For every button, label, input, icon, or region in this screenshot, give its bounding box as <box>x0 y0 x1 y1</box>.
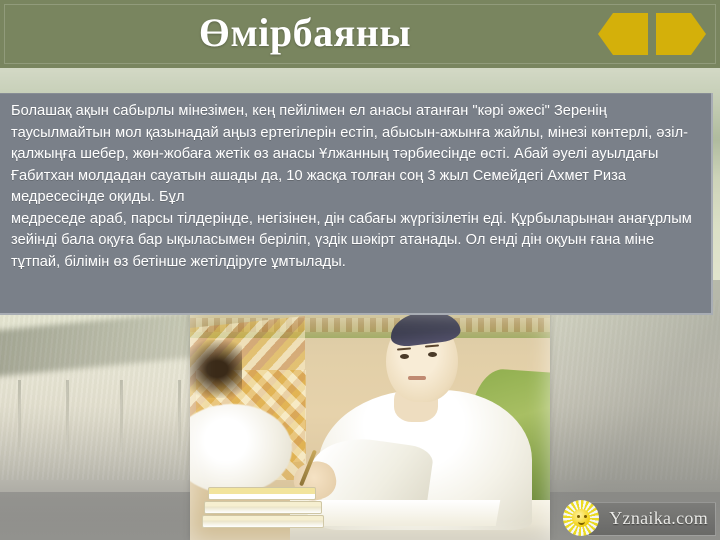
painting-eye-right <box>428 352 437 357</box>
painting-book-stack <box>202 482 322 530</box>
next-slide-arrow-icon[interactable] <box>656 13 706 55</box>
watermark-site-label: Yznaika.com <box>603 508 716 529</box>
painting-eye-left <box>400 354 409 359</box>
sun-icon <box>563 500 599 536</box>
background-fence <box>10 380 200 452</box>
slide-header-bar: Өмірбаяны <box>0 0 720 68</box>
painting-mouth <box>408 376 426 380</box>
biography-text-panel: Болашақ ақын сабырлы мінезімен, кең пейі… <box>0 93 713 315</box>
biography-body-text: Болашақ ақын сабырлы мінезімен, кең пейі… <box>11 101 697 273</box>
previous-slide-arrow-icon[interactable] <box>598 13 648 55</box>
painting-dark-nook <box>190 340 242 398</box>
watermark[interactable]: Yznaika.com <box>563 500 716 536</box>
painting-paper-sheet <box>306 500 501 526</box>
navigation-arrows[interactable] <box>598 13 706 55</box>
slide-canvas: Өмірбаяны Болашақ ақын сабырлы мінезімен… <box>0 0 720 540</box>
abai-portrait-image <box>190 312 550 540</box>
